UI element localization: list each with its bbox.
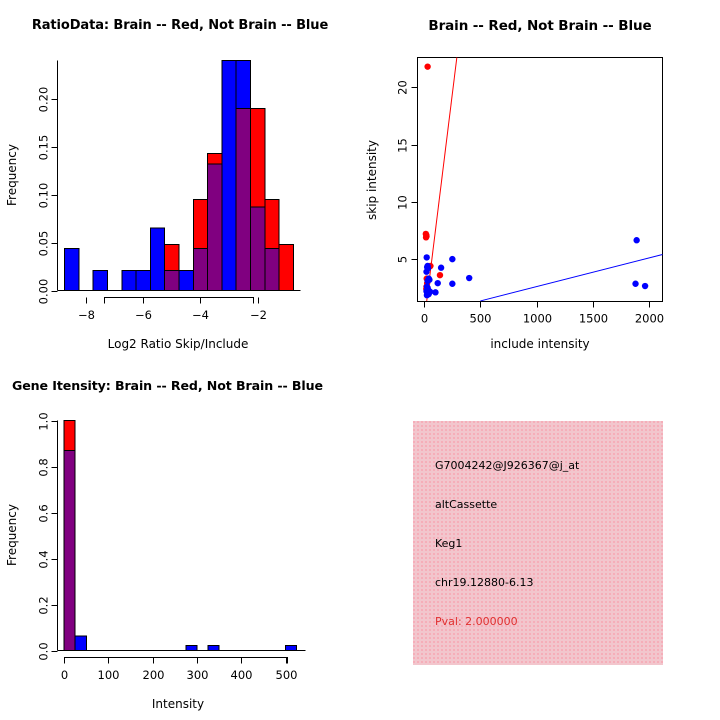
y-tick-label: 0.4 xyxy=(37,550,51,568)
gene-histogram-panel: Gene Itensity: Brain -- Red, Not Brain -… xyxy=(0,360,360,720)
x-tick-label: 300 xyxy=(187,668,209,682)
scatter-panel: Brain -- Red, Not Brain -- Blue 5101520 … xyxy=(360,0,720,360)
ratio-x-axis xyxy=(105,298,254,304)
scatter-y-axis-label: skip intensity xyxy=(365,140,379,220)
info-panel: G7004242@J926367@j_at altCassette Keg1 c… xyxy=(360,360,720,720)
probe-id-text: G7004242@J926367@j_at xyxy=(435,459,579,472)
gene-histogram-plot: 0.00.20.40.60.81.0 0100200300400500 Inte… xyxy=(0,360,360,720)
histogram-bar-not-brain xyxy=(150,228,164,290)
x-tick-label: 500 xyxy=(470,312,492,326)
x-tick-label: 500 xyxy=(276,668,298,682)
histogram-bar-overlap xyxy=(236,108,250,290)
scatter-data-points xyxy=(423,63,649,298)
ratio-histogram-panel: RatioData: Brain -- Red, Not Brain -- Bl… xyxy=(0,0,360,360)
histogram-bar-overlap xyxy=(208,164,222,291)
ratio-y-ticks: 0.000.050.100.150.20 xyxy=(37,87,58,305)
scatter-point-not-brain xyxy=(424,254,430,260)
scatter-point-not-brain xyxy=(633,237,639,243)
y-tick-label: 0.10 xyxy=(37,183,51,209)
histogram-bar-not-brain xyxy=(236,61,250,109)
scatter-point-not-brain xyxy=(449,256,455,262)
histogram-bar-brain xyxy=(265,199,279,248)
y-tick-label: 0.6 xyxy=(37,504,51,522)
x-tick-label: 1500 xyxy=(579,312,608,326)
scatter-point-not-brain xyxy=(438,265,444,271)
pval-text: Pval: 2.000000 xyxy=(435,615,518,628)
scatter-point-brain xyxy=(424,63,430,69)
x-tick-label: −4 xyxy=(192,308,209,322)
scatter-x-axis-label: include intensity xyxy=(490,337,589,351)
fit-line-not-brain-fit xyxy=(480,255,662,301)
histogram-bar-not-brain xyxy=(75,636,86,650)
ratio-x-axis-label: Log2 Ratio Skip/Include xyxy=(108,337,249,351)
x-tick-label: 400 xyxy=(231,668,253,682)
histogram-bar-not-brain xyxy=(136,270,150,290)
gene-histogram-bars xyxy=(64,421,297,651)
histogram-bar-overlap xyxy=(250,207,264,290)
scatter-point-brain xyxy=(437,272,443,278)
scatter-point-not-brain xyxy=(632,281,638,287)
scatter-plot-box xyxy=(418,58,663,302)
event-type-text: altCassette xyxy=(435,498,497,511)
scatter-point-not-brain xyxy=(435,280,441,286)
scatter-point-brain xyxy=(423,233,429,239)
y-tick-label: 20 xyxy=(396,80,410,95)
gene-histogram-title: Gene Itensity: Brain -- Red, Not Brain -… xyxy=(0,378,372,393)
histogram-bar-not-brain xyxy=(122,270,136,290)
y-tick-label: 0.05 xyxy=(37,231,51,257)
gene-symbol-text: Keg1 xyxy=(435,537,462,550)
gene-y-axis-label: Frequency xyxy=(5,504,19,566)
histogram-bar-not-brain xyxy=(93,270,107,290)
histogram-bar-not-brain xyxy=(186,646,197,651)
histogram-bar-overlap xyxy=(193,248,207,290)
x-tick-label: −6 xyxy=(135,308,152,322)
ratio-x-ticks: −8−6−4−2 xyxy=(78,298,267,323)
x-tick-label: −2 xyxy=(250,308,267,322)
ratio-histogram-bars xyxy=(65,61,294,291)
scatter-point-not-brain xyxy=(642,283,648,289)
x-tick-label: 2000 xyxy=(635,312,664,326)
x-tick-label: 0 xyxy=(61,668,68,682)
x-tick-label: 1000 xyxy=(523,312,552,326)
histogram-bar-not-brain xyxy=(222,61,236,291)
histogram-bar-not-brain xyxy=(65,248,79,290)
x-tick-label: 0 xyxy=(421,312,428,326)
gene-x-axis xyxy=(65,658,288,664)
ratio-histogram-title: RatioData: Brain -- Red, Not Brain -- Bl… xyxy=(0,18,360,33)
histogram-bar-not-brain xyxy=(286,646,297,651)
histogram-bar-brain xyxy=(193,199,207,248)
gene-info-box: G7004242@J926367@j_at altCassette Keg1 c… xyxy=(413,421,663,665)
gene-x-ticks: 0100200300400500 xyxy=(61,658,298,683)
y-tick-label: 0.8 xyxy=(37,458,51,476)
y-tick-label: 0.20 xyxy=(37,87,51,113)
histogram-bar-not-brain xyxy=(179,270,193,290)
scatter-point-not-brain xyxy=(424,278,430,284)
y-tick-label: 1.0 xyxy=(37,412,51,430)
histogram-bar-brain xyxy=(165,245,179,271)
locus-text: chr19.12880-6.13 xyxy=(435,576,534,589)
scatter-point-not-brain xyxy=(449,281,455,287)
scatter-plot: 5101520 0500100015002000 include intensi… xyxy=(360,0,720,360)
histogram-bar-brain xyxy=(64,421,75,451)
histogram-bar-overlap xyxy=(165,270,179,290)
histogram-bar-brain xyxy=(279,245,293,291)
histogram-bar-not-brain xyxy=(208,646,219,651)
scatter-title: Brain -- Red, Not Brain -- Blue xyxy=(360,18,720,34)
x-tick-label: −8 xyxy=(78,308,95,322)
scatter-point-not-brain xyxy=(423,269,429,275)
scatter-point-not-brain xyxy=(466,275,472,281)
y-tick-label: 0.2 xyxy=(37,596,51,614)
scatter-point-not-brain xyxy=(424,292,430,298)
gene-y-ticks: 0.00.20.40.60.81.0 xyxy=(37,412,58,660)
y-tick-label: 15 xyxy=(396,138,410,153)
y-tick-label: 10 xyxy=(396,195,410,210)
histogram-bar-brain xyxy=(208,153,222,164)
x-tick-label: 100 xyxy=(98,668,120,682)
ratio-histogram-plot: 0.000.050.100.150.20 −8−6−4−2 Log2 Ratio… xyxy=(0,0,360,360)
scatter-y-ticks: 5101520 xyxy=(396,80,418,263)
histogram-bar-overlap xyxy=(64,450,75,650)
y-tick-label: 0.15 xyxy=(37,135,51,161)
y-tick-label: 0.00 xyxy=(37,279,51,305)
y-tick-label: 0.0 xyxy=(37,642,51,660)
scatter-fit-lines xyxy=(427,58,663,301)
scatter-point-not-brain xyxy=(432,289,438,295)
scatter-x-ticks: 0500100015002000 xyxy=(421,302,664,326)
gene-x-axis-label: Intensity xyxy=(152,697,204,711)
ratio-y-axis-label: Frequency xyxy=(5,144,19,206)
histogram-bar-overlap xyxy=(265,248,279,290)
y-tick-label: 5 xyxy=(396,256,410,263)
x-tick-label: 200 xyxy=(143,668,165,682)
histogram-bar-brain xyxy=(250,108,264,207)
